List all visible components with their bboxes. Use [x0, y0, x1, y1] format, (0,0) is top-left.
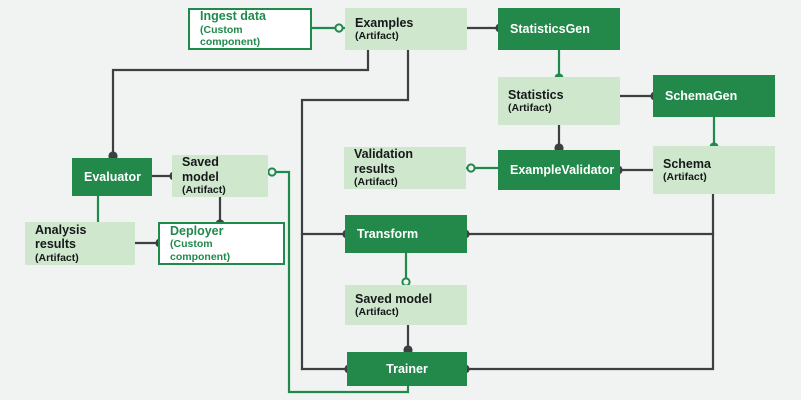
node-label: Transform — [357, 227, 455, 241]
node-deployer[interactable]: Deployer(Custom component) — [158, 222, 285, 265]
node-validationresults[interactable]: Validation results(Artifact) — [344, 147, 466, 189]
node-sublabel: (Artifact) — [182, 184, 258, 197]
node-examplevalidator[interactable]: ExampleValidator — [498, 150, 620, 190]
node-sublabel: (Artifact) — [663, 171, 765, 184]
node-label: Saved model — [355, 292, 457, 306]
node-evaluator[interactable]: Evaluator — [72, 158, 152, 196]
node-analysisresults[interactable]: Analysis results(Artifact) — [25, 222, 135, 265]
node-label: Ingest data — [200, 9, 300, 23]
pipeline-diagram: Ingest data(Custom component)Examples(Ar… — [0, 0, 801, 400]
node-savedmodel_top[interactable]: Saved model(Artifact) — [172, 155, 268, 197]
node-label: StatisticsGen — [510, 22, 608, 36]
node-trainer[interactable]: Trainer — [347, 352, 467, 386]
node-sublabel: (Custom component) — [170, 238, 273, 263]
node-ingest[interactable]: Ingest data(Custom component) — [188, 8, 312, 50]
node-sublabel: (Artifact) — [354, 176, 456, 189]
node-label: Saved model — [182, 155, 258, 184]
node-label: Deployer — [170, 224, 273, 238]
node-examples[interactable]: Examples(Artifact) — [345, 8, 467, 50]
node-label: Statistics — [508, 88, 610, 102]
node-statisticsgen[interactable]: StatisticsGen — [498, 8, 620, 50]
node-sublabel: (Artifact) — [508, 102, 610, 115]
node-sublabel: (Artifact) — [355, 306, 457, 319]
edge-examples-evaluator — [113, 50, 368, 158]
node-label: Validation results — [354, 147, 456, 176]
node-sublabel: (Artifact) — [35, 252, 125, 265]
node-label: Schema — [663, 157, 765, 171]
node-schemagen[interactable]: SchemaGen — [653, 75, 775, 117]
edge-layer — [0, 0, 801, 400]
node-sublabel: (Custom component) — [200, 24, 300, 49]
node-label: ExampleValidator — [510, 163, 608, 177]
node-statistics[interactable]: Statistics(Artifact) — [498, 77, 620, 125]
node-label: Examples — [355, 16, 457, 30]
node-savedmodel_bottom[interactable]: Saved model(Artifact) — [345, 285, 467, 325]
node-label: Analysis results — [35, 223, 125, 252]
node-label: Evaluator — [84, 170, 140, 184]
edge-schema-transform-trainer — [467, 194, 713, 369]
node-sublabel: (Artifact) — [355, 30, 457, 43]
node-label: Trainer — [359, 362, 455, 376]
node-transform[interactable]: Transform — [345, 215, 467, 253]
node-schema[interactable]: Schema(Artifact) — [653, 146, 775, 194]
node-label: SchemaGen — [665, 89, 763, 103]
